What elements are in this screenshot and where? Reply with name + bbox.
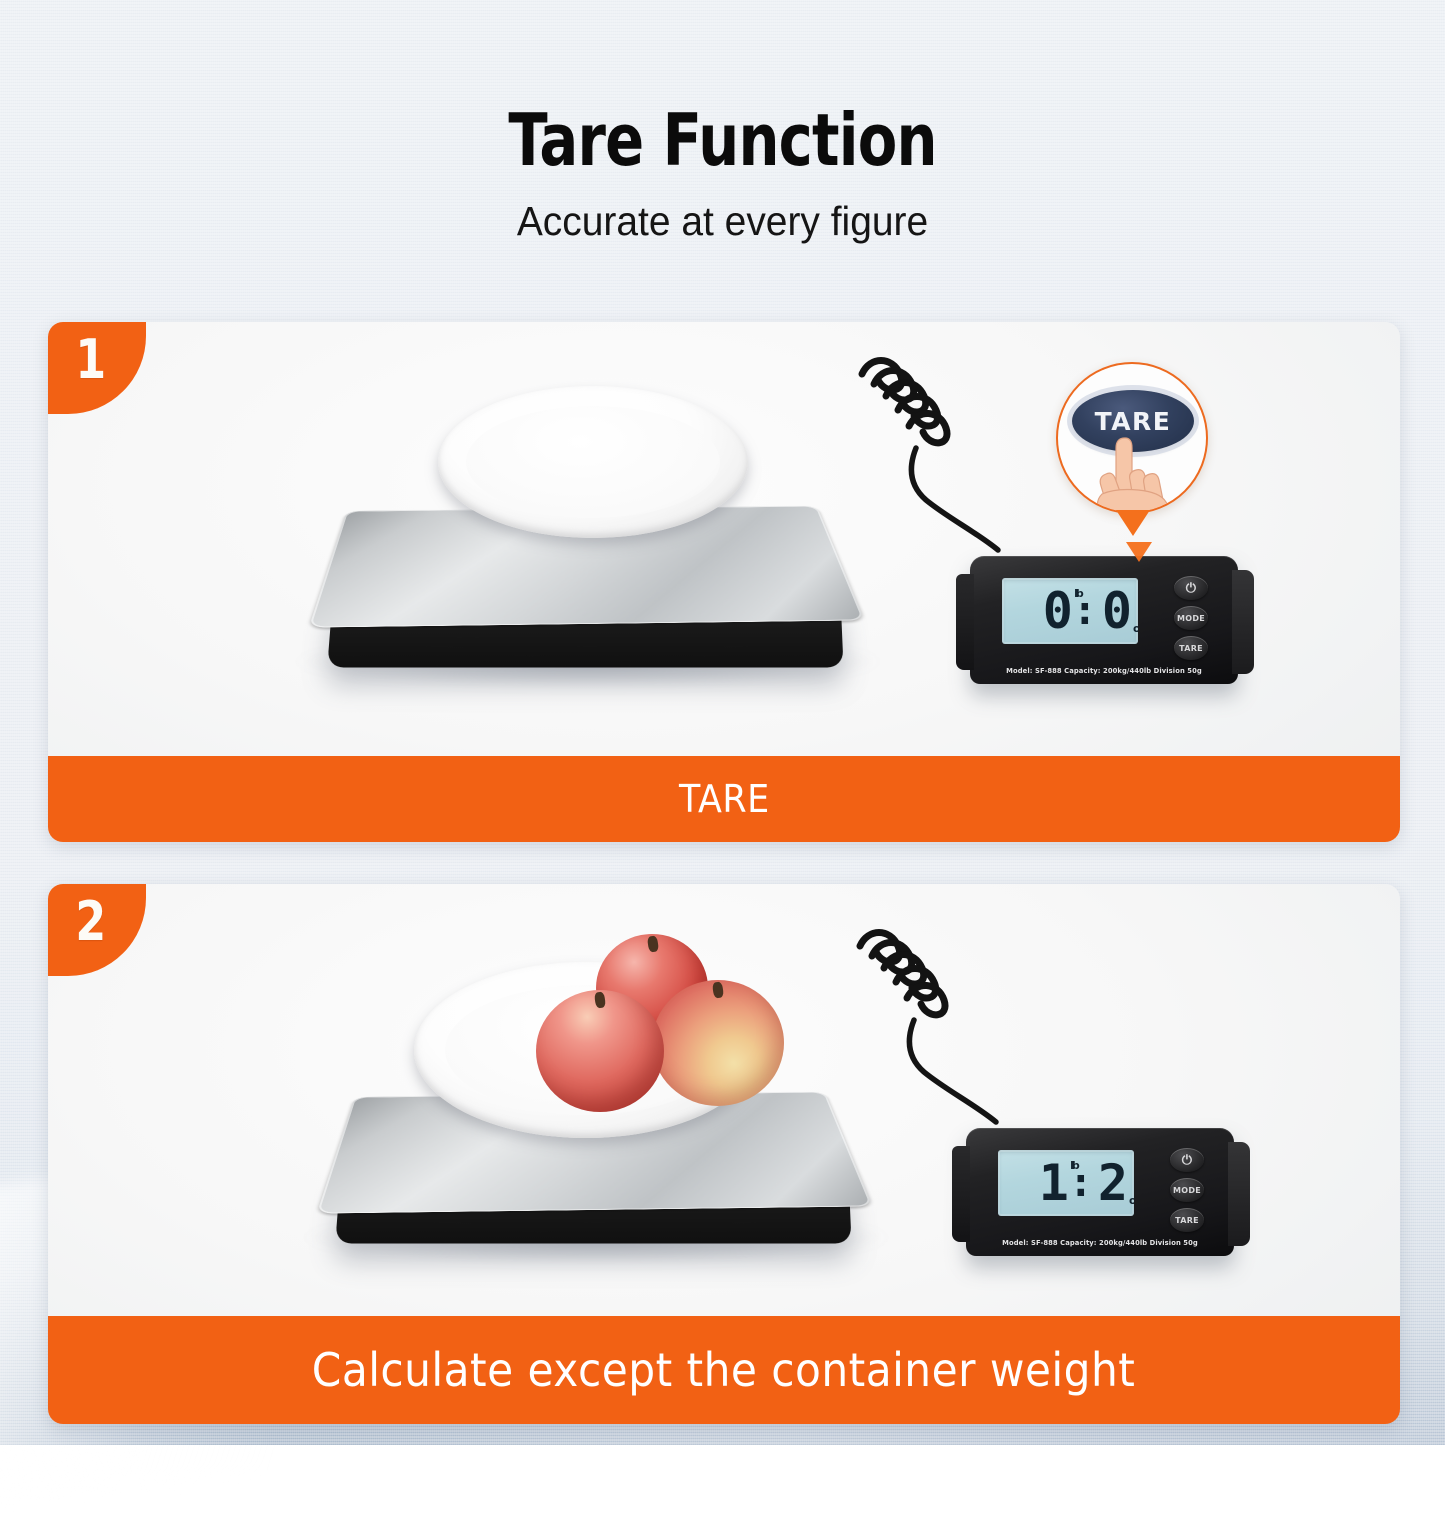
step-badge-number-1: 1 [75,328,106,391]
display-left-hinge [952,1146,970,1242]
display-button-column-2: ⏻ MODE TARE [1170,1148,1204,1232]
caption-text-1: TARE [679,777,770,821]
lcd-pounds-digit: 0 lb [1043,586,1071,636]
lcd-oz-unit: oz [1133,623,1138,634]
caption-bar-1: TARE [48,756,1400,842]
tare-button[interactable]: TARE [1174,636,1208,660]
product-photo-step-1: 0 lb : 0 oz ⏻ MODE TARE Model: SF-888 Ca… [48,322,1400,756]
power-button[interactable]: ⏻ [1174,576,1208,600]
lcd-oz-unit: oz [1129,1195,1134,1206]
page-subtitle: Accurate at every figure [36,176,1409,245]
caption-text-2: Calculate except the container weight [312,1343,1136,1397]
mode-button[interactable]: MODE [1174,606,1208,630]
lcd-readout-1: 0 lb : 0 oz [1002,578,1138,644]
display-left-hinge [956,574,974,670]
mode-button[interactable]: MODE [1170,1178,1204,1202]
apple-left [536,990,664,1112]
lcd-pounds-digit: 1 lb [1039,1158,1067,1208]
model-spec-label-1: Model: SF-888 Capacity: 200kg/440lb Divi… [978,666,1230,675]
step-panel-2: 1 lb : 2 oz ⏻ MODE TARE Model: SF-888 Ca… [48,884,1400,1424]
display-stand [1232,570,1254,674]
lcd-ounces-digit: 0 oz [1102,586,1130,636]
header: Tare Function Accurate at every figure [0,0,1445,245]
callout-circle: TARE [1056,362,1208,514]
product-photo-step-2: 1 lb : 2 oz ⏻ MODE TARE Model: SF-888 Ca… [48,884,1400,1316]
display-stand [1228,1142,1250,1246]
tare-button[interactable]: TARE [1170,1208,1204,1232]
callout-arrow-down [1126,542,1152,562]
hand-pointing-finger-icon [1092,424,1176,514]
lcd-lb-unit: lb [1074,588,1082,599]
scale-platform-2 [296,936,886,1256]
power-button[interactable]: ⏻ [1170,1148,1204,1172]
callout-pointer-triangle [1116,510,1150,536]
caption-bar-2: Calculate except the container weight [48,1316,1400,1424]
apple-right [652,980,784,1106]
lcd-lb-unit: lb [1070,1160,1078,1171]
coiled-cable-1 [848,336,1038,586]
white-plate-1 [438,386,748,538]
model-spec-label-2: Model: SF-888 Capacity: 200kg/440lb Divi… [974,1238,1226,1247]
lcd-readout-2: 1 lb : 2 oz [998,1150,1134,1216]
plate-inner-well [466,406,720,518]
step-panel-1: 0 lb : 0 oz ⏻ MODE TARE Model: SF-888 Ca… [48,322,1400,842]
scale-platform-1 [288,350,888,680]
coiled-cable-2 [846,908,1036,1158]
lcd-screen-2: 1 lb : 2 oz [998,1150,1134,1216]
page-title: Tare Function [145,0,1301,176]
step-badge-number-2: 2 [75,890,106,953]
display-button-column-1: ⏻ MODE TARE [1174,576,1208,660]
tare-callout: TARE [1056,362,1208,514]
lcd-screen-1: 0 lb : 0 oz [1002,578,1138,644]
lcd-ounces-digit: 2 oz [1098,1158,1126,1208]
white-plate-2 [414,962,758,1138]
